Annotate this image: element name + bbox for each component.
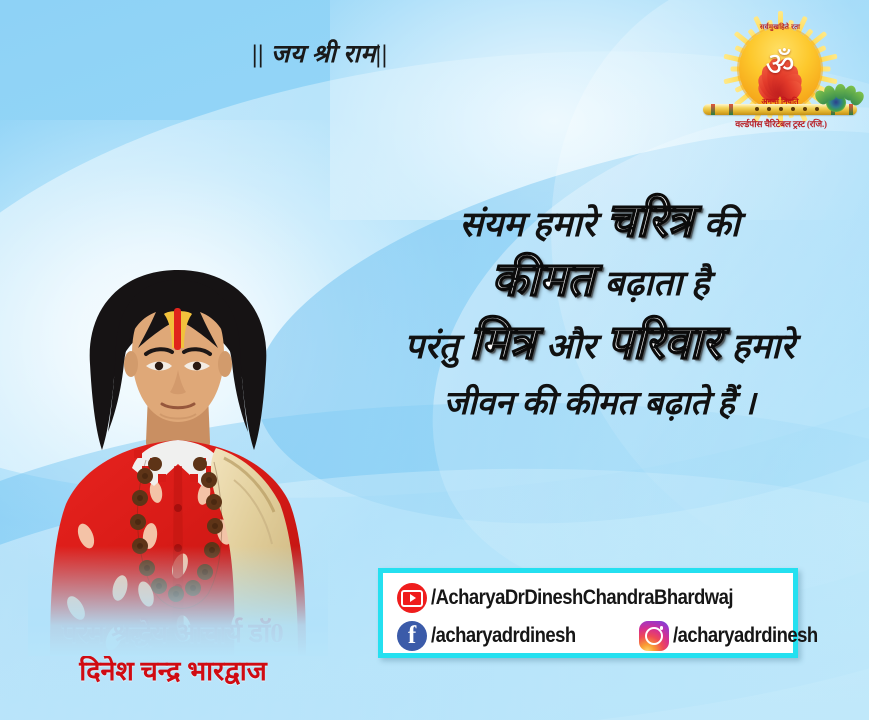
- ear-right: [218, 351, 232, 377]
- quote-line-2-part2: बढ़ाता है: [604, 264, 709, 303]
- social-item-facebook[interactable]: f /acharyadrdinesh: [397, 621, 595, 651]
- header-invocation: || जय श्री राम||: [0, 36, 640, 70]
- flute-hole: [755, 107, 759, 111]
- om-icon: ॐ: [765, 48, 795, 80]
- portrait-bottom-fade: [28, 546, 328, 656]
- quote-poster: || जय श्री राम|| सर्वमुखहिते रता ॐ अनन्त…: [0, 0, 869, 720]
- speaker-name-line-2: दिनेश चन्द्र भारद्वाज: [8, 652, 338, 690]
- social-row-youtube: /AcharyaDrDineshChandraBhardwaj: [397, 579, 793, 617]
- social-links-box: /AcharyaDrDineshChandraBhardwaj f /achar…: [378, 568, 798, 658]
- social-item-youtube[interactable]: /AcharyaDrDineshChandraBhardwaj: [397, 583, 774, 613]
- flute-band: [711, 104, 715, 115]
- flute-hole: [767, 107, 771, 111]
- ear-left: [124, 351, 138, 377]
- flute-hole: [803, 107, 807, 111]
- logo-motto-text: सर्वमुखहिते रता: [721, 23, 839, 32]
- instagram-handle[interactable]: /acharyadrdinesh: [673, 624, 818, 648]
- quote-line-3: परंतु मित्र और परिवार हमारे: [330, 314, 869, 377]
- flute-band: [729, 104, 733, 115]
- quote-line-1-part2: की: [704, 205, 740, 244]
- youtube-icon[interactable]: [397, 583, 427, 613]
- facebook-icon[interactable]: f: [397, 621, 427, 651]
- youtube-handle[interactable]: /AcharyaDrDineshChandraBhardwaj: [431, 586, 733, 610]
- quote-line-3-part3: हमारे: [732, 327, 795, 366]
- social-row-facebook-instagram: f /acharyadrdinesh /acharyadrdinesh: [397, 617, 793, 655]
- quote-line-3-emphasis-1: मित्र: [467, 318, 537, 369]
- flute-hole: [779, 107, 783, 111]
- quote-line-1-emphasis: चरित्र: [605, 196, 695, 247]
- trust-logo: सर्वमुखहिते रता ॐ अनन्त निवति वर्ल्डपीस …: [697, 4, 865, 138]
- instagram-icon[interactable]: [639, 621, 669, 651]
- speaker-portrait: [28, 236, 328, 656]
- quote-text: संयम हमारे चरित्र की कीमत बढ़ाता है परंत…: [330, 196, 869, 431]
- quote-line-1: संयम हमारे चरित्र की: [330, 196, 869, 251]
- facebook-handle[interactable]: /acharyadrdinesh: [431, 624, 576, 648]
- quote-line-4: जीवन की कीमत बढ़ाते हैं ।: [330, 377, 869, 431]
- trust-name-text: वर्ल्डपीस चैरिटेबल ट्रस्ट (रजि.): [697, 117, 865, 130]
- quote-line-1-part1: संयम हमारे: [459, 205, 596, 244]
- peacock-feather-icon: [819, 86, 853, 116]
- quote-line-2: कीमत बढ़ाता है: [330, 251, 869, 314]
- flute-hole: [791, 107, 795, 111]
- quote-line-3-part2: और: [546, 327, 596, 366]
- social-item-instagram[interactable]: /acharyadrdinesh: [639, 621, 837, 651]
- quote-line-3-part1: परंतु: [404, 327, 458, 366]
- quote-line-3-emphasis-2: परिवार: [604, 318, 723, 369]
- quote-line-2-emphasis: कीमत: [489, 255, 595, 306]
